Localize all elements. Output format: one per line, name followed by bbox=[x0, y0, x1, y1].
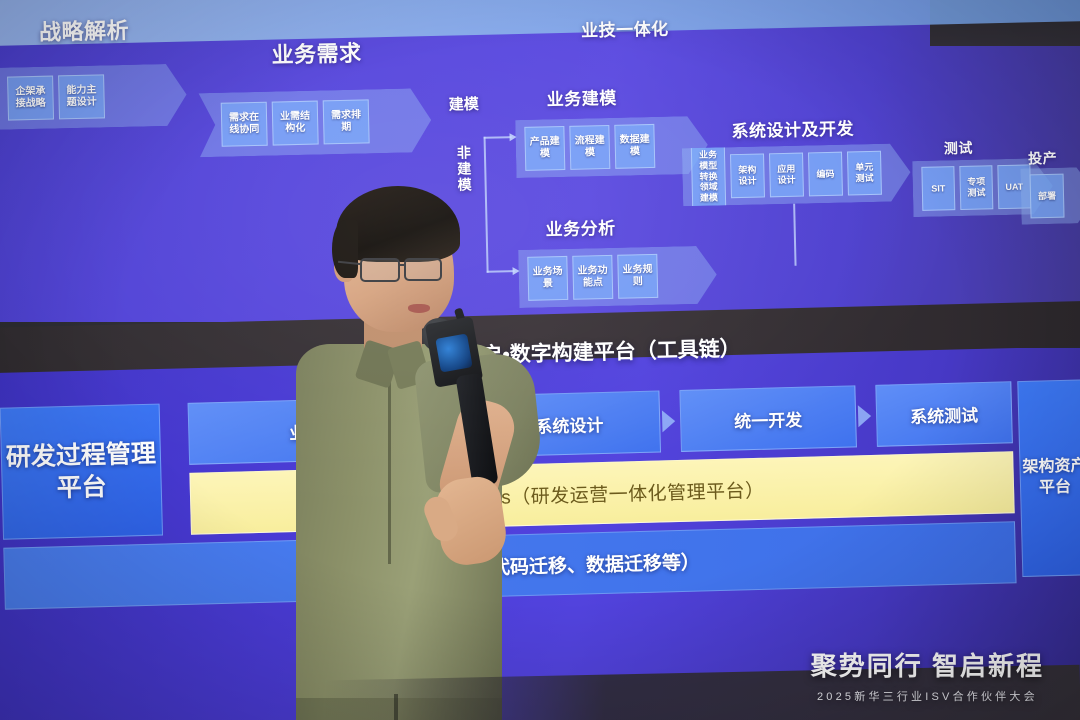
cell-model-3: 数据建模 bbox=[614, 124, 655, 169]
group-header-modeling: 业务建模 bbox=[546, 84, 617, 111]
cell-strategy-2: 能力主题设计 bbox=[58, 74, 105, 119]
presenter-shirt-placket bbox=[388, 374, 391, 564]
microphone-logo-face bbox=[435, 333, 472, 372]
presenter-sideburn bbox=[332, 220, 358, 278]
cell-req-3: 需求排期 bbox=[323, 99, 370, 144]
group-header-golive: 投产 bbox=[1028, 148, 1057, 169]
event-name: 2025新华三行业ISV合作伙伴大会 bbox=[811, 688, 1044, 704]
cell-model-1: 产品建模 bbox=[524, 126, 565, 171]
group-header-testing: 测试 bbox=[944, 138, 973, 159]
group-system-design-dev: 业务模型转换领域建模 架构设计 应用设计 编码 单元测试 bbox=[682, 143, 911, 206]
event-branding: 聚势同行 智启新程 2025新华三行业ISV合作伙伴大会 bbox=[811, 646, 1044, 704]
presentation-photo: 运行态分层解耦开放融合 业技一体化 战略解析 企架承接战略 能力主题设计 业务需… bbox=[0, 0, 1080, 720]
stage-arrow-2 bbox=[662, 410, 676, 432]
band-label-integration: 业技一体化 bbox=[581, 15, 669, 42]
dev-drop-connector bbox=[793, 204, 796, 266]
cell-golive-1: 部署 bbox=[1030, 174, 1065, 219]
group-strategy-analysis: 企架承接战略 能力主题设计 bbox=[0, 64, 187, 130]
cell-test-2: 专项测试 bbox=[959, 165, 993, 210]
group-header-sysdesign: 系统设计及开发 bbox=[731, 114, 854, 142]
stage-box-unified-dev: 统一开发 bbox=[679, 385, 857, 452]
stage-box-system-test: 系统测试 bbox=[875, 381, 1013, 447]
event-slogan: 聚势同行 智启新程 bbox=[811, 646, 1044, 683]
cell-strategy-1: 企架承接战略 bbox=[7, 76, 54, 121]
cell-dev-1: 业务模型转换领域建模 bbox=[691, 143, 727, 211]
cell-dev-2: 架构设计 bbox=[730, 153, 765, 198]
glasses-bridge bbox=[398, 264, 406, 266]
branch-label-modeling: 建模 bbox=[449, 93, 479, 115]
cell-dev-4: 编码 bbox=[808, 152, 843, 197]
cell-req-2: 业需结构化 bbox=[272, 101, 319, 146]
cell-dev-3: 应用设计 bbox=[769, 153, 804, 198]
group-header-strategy: 战略解析 bbox=[39, 13, 130, 47]
cell-ana-2: 业务功能点 bbox=[572, 255, 613, 300]
presenter-mouth bbox=[408, 304, 430, 313]
group-business-requirements: 需求在线协同 业需结构化 需求排期 bbox=[198, 88, 431, 157]
group-business-modeling: 产品建模 流程建模 数据建模 bbox=[515, 116, 708, 178]
box-arch-asset-platform: 架构资产平台 bbox=[1017, 379, 1080, 577]
group-go-live: 部署 bbox=[1020, 167, 1080, 225]
cell-req-1: 需求在线协同 bbox=[221, 102, 268, 147]
glasses-lens-left bbox=[360, 258, 400, 282]
box-rd-process-platform: 研发过程管理平台 bbox=[0, 404, 163, 540]
group-header-requirements: 业务需求 bbox=[271, 36, 362, 70]
glasses-lens-right bbox=[404, 258, 442, 281]
stage-arrow-3 bbox=[858, 405, 872, 427]
cell-dev-5: 单元测试 bbox=[847, 151, 882, 196]
cell-ana-3: 业务规则 bbox=[617, 254, 658, 299]
presenter-person bbox=[252, 178, 572, 720]
cell-model-2: 流程建模 bbox=[569, 125, 610, 170]
cell-test-1: SIT bbox=[921, 166, 955, 211]
slide-top-band bbox=[0, 0, 1080, 47]
branch-arm-top bbox=[484, 136, 512, 139]
